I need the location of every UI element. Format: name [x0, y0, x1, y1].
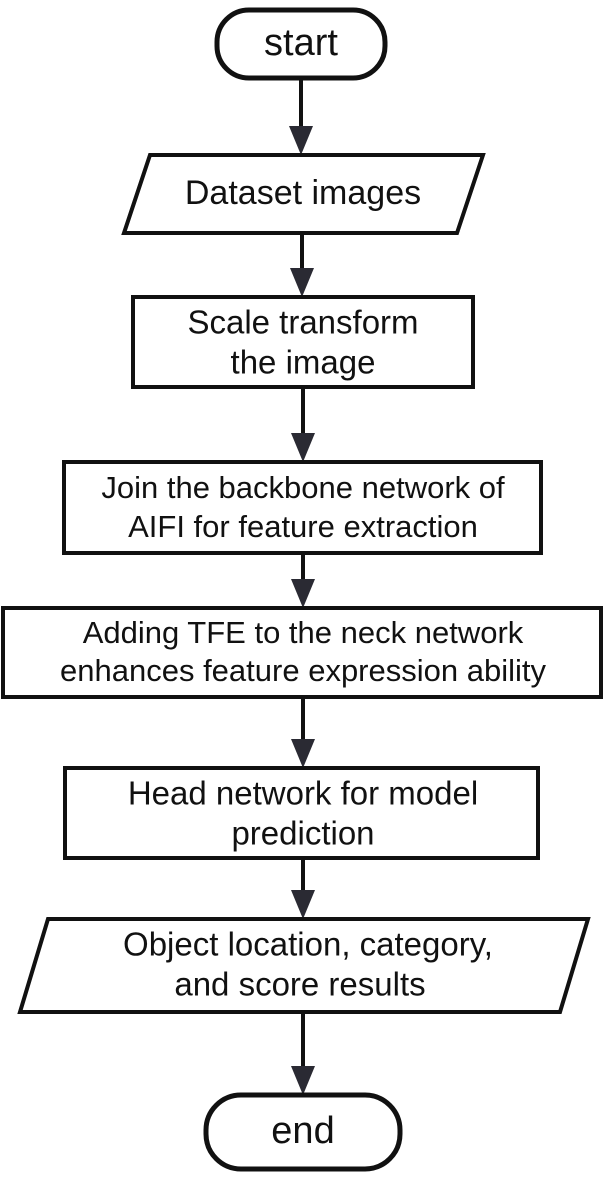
node-start-label: start — [264, 22, 338, 64]
edge-backbone-aifi-to-tfe-neck — [291, 553, 315, 608]
node-tfe-neck-line-2: enhances feature expression ability — [60, 653, 546, 688]
edge-dataset-images-to-scale-transform — [290, 233, 314, 297]
node-end-label: end — [271, 1110, 334, 1152]
edge-arrowhead-icon — [289, 126, 313, 155]
edge-arrowhead-icon — [291, 1066, 315, 1095]
flowchart-svg: start Dataset images Scale transform the… — [0, 0, 605, 1182]
node-results[interactable]: Object location, category, and score res… — [20, 919, 588, 1012]
edge-scale-transform-to-backbone-aifi — [291, 387, 315, 462]
flowchart-canvas: start Dataset images Scale transform the… — [0, 0, 605, 1182]
node-backbone-aifi-line-1: Join the backbone network of — [101, 470, 505, 505]
node-results-line-1: Object location, category, — [123, 926, 493, 963]
node-tfe-neck-line-1: Adding TFE to the neck network — [83, 615, 524, 650]
node-backbone-aifi-line-2: AIFI for feature extraction — [128, 509, 478, 544]
edge-arrowhead-icon — [291, 579, 315, 608]
node-head-prediction-line-1: Head network for model — [128, 775, 478, 812]
node-scale-transform[interactable]: Scale transform the image — [133, 297, 473, 387]
node-end[interactable]: end — [206, 1095, 400, 1169]
edge-results-to-end — [291, 1012, 315, 1095]
edge-arrowhead-icon — [291, 433, 315, 462]
edge-arrowhead-icon — [291, 890, 315, 919]
node-head-prediction[interactable]: Head network for model prediction — [65, 768, 538, 858]
edge-start-to-dataset-images — [289, 78, 313, 155]
node-tfe-neck[interactable]: Adding TFE to the neck network enhances … — [3, 608, 601, 697]
edge-tfe-neck-to-head-prediction — [291, 697, 315, 768]
node-scale-transform-line-2: the image — [231, 344, 376, 381]
node-dataset-images[interactable]: Dataset images — [124, 155, 483, 233]
node-backbone-aifi[interactable]: Join the backbone network of AIFI for fe… — [64, 462, 541, 553]
edge-arrowhead-icon — [290, 268, 314, 297]
node-dataset-images-label: Dataset images — [185, 174, 421, 212]
node-scale-transform-line-1: Scale transform — [187, 304, 418, 341]
edge-arrowhead-icon — [291, 739, 315, 768]
node-results-line-2: and score results — [174, 966, 425, 1003]
node-head-prediction-line-2: prediction — [231, 815, 374, 852]
edge-head-prediction-to-results — [291, 858, 315, 919]
node-start[interactable]: start — [217, 10, 385, 78]
